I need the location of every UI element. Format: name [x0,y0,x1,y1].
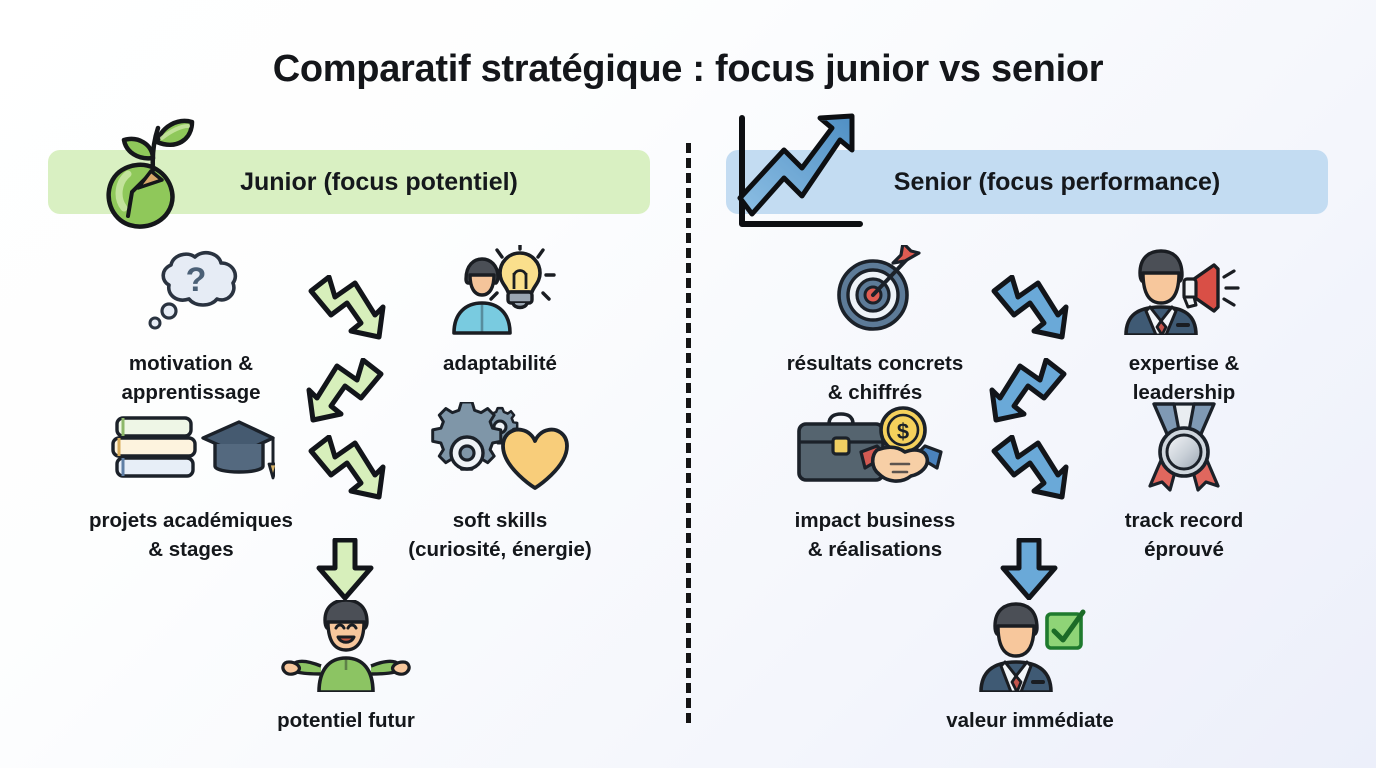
icon-slot [1118,248,1250,340]
bent-arrow-down-left-senior-2 [988,358,1070,429]
infographic-canvas: Comparatif stratégique : focus junior vs… [0,0,1376,768]
thought-bubble-question-icon: ? [139,249,243,340]
column-header-senior: Senior (focus performance) [726,150,1328,214]
businessman-checkmark-icon [971,600,1089,697]
item-label: valeur immédiate [946,706,1114,735]
item-label: expertise & leadership [1129,349,1240,407]
column-divider [686,143,691,723]
icon-slot: $ [795,405,955,497]
icon-slot [1132,405,1236,497]
item-potentiel-futur: potentiel futur [221,605,471,735]
happy-person-open-arms-icon [281,600,411,697]
item-track-record: track record éprouvé [1059,405,1309,564]
svg-text:?: ? [186,261,207,299]
gears-heart-icon [425,402,575,497]
item-label: impact business & réalisations [795,506,956,564]
item-label: projets académiques & stages [89,506,293,564]
item-label: potentiel futur [277,706,415,735]
column-header-junior: Junior (focus potentiel) [48,150,650,214]
icon-slot [971,605,1089,697]
item-expertise-leadership: expertise & leadership [1059,248,1309,407]
page-title: Comparatif stratégique : focus junior vs… [0,48,1376,91]
books-graduation-cap-icon [107,410,275,497]
item-adaptabilite: adaptabilité [375,248,625,378]
icon-slot [281,605,411,697]
item-projets-academiques: projets académiques & stages [66,405,316,564]
straight-arrow-down-junior-4 [313,538,377,605]
item-label: track record éprouvé [1125,506,1244,564]
icon-slot [444,248,556,340]
icon-slot [425,405,575,497]
briefcase-handshake-coin-icon: $ [795,404,955,497]
item-label: adaptabilité [443,349,557,378]
item-motivation-apprentissage: ? motivation & apprentissage [66,248,316,407]
businessman-megaphone-icon [1118,245,1250,340]
icon-slot [825,248,925,340]
bent-arrow-down-right-senior-1 [988,275,1070,346]
svg-text:$: $ [897,419,909,444]
bent-arrow-down-right-senior-3 [988,435,1070,506]
icon-slot [107,405,275,497]
column-header-junior-label: Junior (focus potentiel) [240,168,518,197]
column-header-senior-label: Senior (focus performance) [894,168,1220,197]
straight-arrow-down-senior-4 [997,538,1061,605]
medal-ribbon-icon [1132,402,1236,497]
person-lightbulb-icon [444,245,556,340]
item-label: résultats concrets & chiffrés [787,349,964,407]
item-label: soft skills (curiosité, énergie) [408,506,591,564]
icon-slot: ? [139,248,243,340]
item-soft-skills: soft skills (curiosité, énergie) [375,405,625,564]
item-impact-business: $ impact business & réalisations [750,405,1000,564]
item-resultats-concrets: résultats concrets & chiffrés [750,248,1000,407]
target-arrow-icon [825,245,925,340]
item-valeur-immediate: valeur immédiate [905,605,1155,735]
item-label: motivation & apprentissage [122,349,261,407]
